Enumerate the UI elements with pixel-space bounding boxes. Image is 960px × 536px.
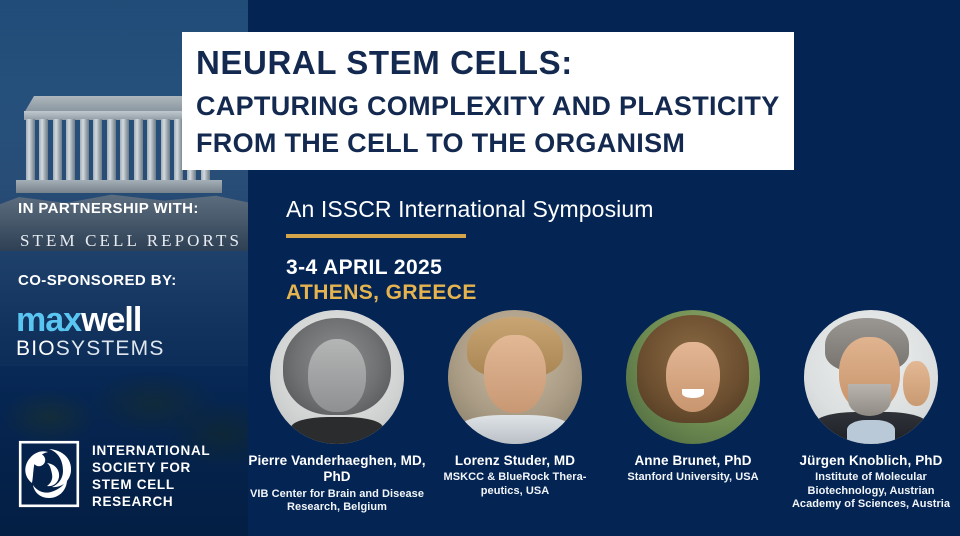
portrait-torso: [461, 415, 568, 444]
portrait-torso: [291, 417, 382, 444]
speaker-affiliation: MSKCC & BlueRock Thera-peutics, USA: [426, 471, 604, 497]
title-line-3: FROM THE CELL TO THE ORGANISM: [182, 125, 794, 170]
event-subtitle: An ISSCR International Symposium: [286, 196, 654, 223]
maxwell-biosystems-logo: maxwell BIOSYSTEMS: [16, 304, 196, 360]
speaker-name: Anne Brunet, PhD: [634, 453, 751, 469]
portrait-hand: [903, 361, 930, 407]
speaker-portrait: [448, 310, 582, 444]
speaker-name: Jürgen Knoblich, PhD: [799, 453, 942, 469]
title-line-2: CAPTURING COMPLEXITY AND PLASTICITY: [182, 87, 794, 125]
event-location: ATHENS, GREECE: [286, 281, 477, 305]
speaker-affiliation: Institute of Molecular Biotechnology, Au…: [782, 471, 960, 511]
isscr-line-4: RESEARCH: [92, 493, 210, 510]
maxwell-word-bio: BIO: [16, 337, 56, 360]
gold-divider: [286, 234, 466, 238]
isscr-swirl-icon: [18, 440, 80, 508]
portrait-shirt: [847, 420, 895, 444]
symposium-poster: IN PARTNERSHIP WITH: STEM CELL REPORTS C…: [0, 0, 960, 536]
speaker-portrait: [804, 310, 938, 444]
portrait-face: [308, 339, 367, 411]
isscr-logo: INTERNATIONAL SOCIETY FOR STEM CELL RESE…: [18, 440, 210, 511]
speaker-name: Lorenz Studer, MD: [455, 453, 575, 469]
speaker-card: Jürgen Knoblich, PhD Institute of Molecu…: [782, 310, 960, 511]
isscr-line-2: SOCIETY FOR: [92, 459, 210, 476]
title-line-1: NEURAL STEM CELLS:: [182, 32, 794, 87]
stem-cell-reports-logo: STEM CELL REPORTS: [20, 231, 242, 251]
speaker-card: Lorenz Studer, MD MSKCC & BlueRock Thera…: [426, 310, 604, 498]
maxwell-wordmark: maxwell: [16, 304, 196, 337]
speaker-row: Pierre Vanderhaeghen, MD, PhD VIB Center…: [248, 310, 960, 514]
speaker-affiliation: VIB Center for Brain and Disease Researc…: [248, 488, 426, 514]
isscr-line-1: INTERNATIONAL: [92, 442, 210, 459]
isscr-wordmark: INTERNATIONAL SOCIETY FOR STEM CELL RESE…: [92, 440, 210, 511]
maxwell-word-well: well: [81, 301, 141, 339]
speaker-portrait: [626, 310, 760, 444]
portrait-face: [484, 335, 546, 413]
partnership-label: IN PARTNERSHIP WITH:: [18, 200, 199, 217]
event-date: 3-4 APRIL 2025: [286, 256, 442, 280]
portrait-face: [666, 342, 720, 412]
poster-title: NEURAL STEM CELLS: CAPTURING COMPLEXITY …: [182, 32, 794, 170]
speaker-card: Anne Brunet, PhD Stanford University, US…: [604, 310, 782, 485]
cosponsor-label: CO-SPONSORED BY:: [18, 272, 177, 289]
speaker-card: Pierre Vanderhaeghen, MD, PhD VIB Center…: [248, 310, 426, 514]
maxwell-word-systems: SYSTEMS: [56, 337, 165, 360]
maxwell-subwordmark: BIOSYSTEMS: [16, 338, 196, 360]
speaker-affiliation: Stanford University, USA: [627, 471, 758, 484]
portrait-beard: [848, 384, 891, 416]
maxwell-word-max: max: [16, 301, 81, 339]
speaker-portrait: [270, 310, 404, 444]
isscr-line-3: STEM CELL: [92, 476, 210, 493]
speaker-name: Pierre Vanderhaeghen, MD, PhD: [248, 453, 426, 486]
